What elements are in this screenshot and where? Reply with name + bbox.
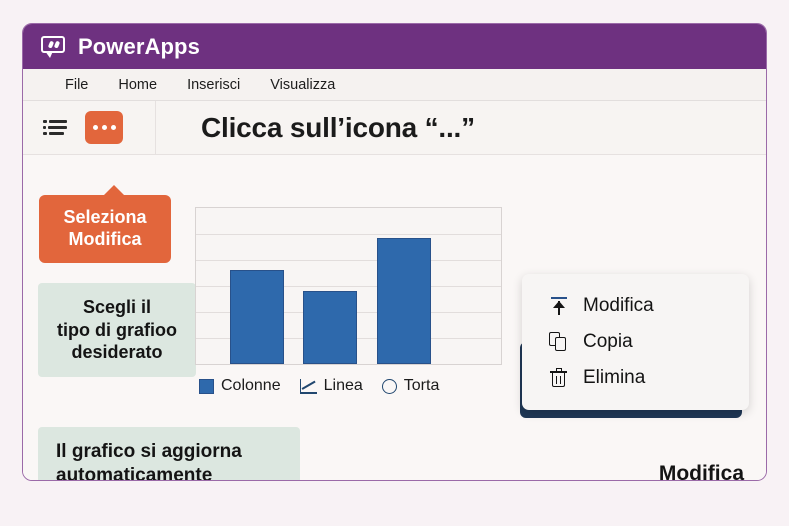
note-grafico-aggiorna: Il grafico si aggiorna automaticamente	[38, 427, 300, 481]
chart-type-legend: Colonne Linea Torta	[199, 377, 439, 395]
title-bar: PowerApps	[23, 24, 766, 69]
page-title: Clicca sull’icona “...”	[201, 112, 475, 144]
ellipsis-more-options-button[interactable]	[85, 111, 123, 144]
context-menu: Modifica Copia Elimina	[522, 274, 749, 410]
legend-item-torta[interactable]: Torta	[382, 377, 440, 395]
trash-icon	[549, 368, 569, 388]
legend-item-linea[interactable]: Linea	[300, 377, 363, 395]
context-menu-item-elimina[interactable]: Elimina	[522, 360, 749, 396]
line-chart-swatch-icon	[300, 379, 317, 394]
app-title: PowerApps	[78, 34, 200, 60]
legend-item-colonne[interactable]: Colonne	[199, 377, 281, 395]
note-line-1: Il grafico si aggiorna	[56, 440, 282, 464]
note-line-2: tipo di grafioo	[48, 319, 186, 342]
command-row: Clicca sull’icona “...”	[23, 101, 766, 155]
callout-line-2: Modifica	[49, 229, 161, 251]
menu-item-file[interactable]: File	[65, 77, 88, 93]
note-scegli-tipo-grafico: Scegli il tipo di grafioo desiderato	[38, 283, 196, 377]
chart-gridline	[196, 234, 501, 235]
legend-label: Linea	[324, 377, 363, 395]
copy-icon	[549, 332, 569, 352]
column-chart-swatch-icon	[199, 379, 214, 394]
ellipsis-dot	[102, 125, 107, 130]
note-line-2: automaticamente	[56, 464, 282, 481]
bulleted-list-icon[interactable]	[43, 119, 67, 136]
context-menu-item-copia[interactable]: Copia	[522, 324, 749, 360]
legend-label: Colonne	[221, 377, 281, 395]
context-menu-label: Copia	[583, 331, 633, 353]
canvas-body: Seleziona Modifica Scegli il tipo di gra…	[23, 155, 766, 480]
chart-bar[interactable]	[303, 291, 357, 364]
menu-item-home[interactable]: Home	[118, 77, 157, 93]
arrow-up-to-line-icon	[549, 296, 569, 316]
context-menu-label: Modifica	[583, 295, 654, 317]
ellipsis-dot	[111, 125, 116, 130]
app-window: PowerApps File Home Inserisci Visualizza…	[22, 23, 767, 481]
pie-chart-swatch-icon	[382, 379, 397, 394]
context-menu-label: Elimina	[583, 367, 645, 389]
chart-gridline	[196, 260, 501, 261]
menu-item-inserisci[interactable]: Inserisci	[187, 77, 240, 93]
footer-line-1: Modifica	[605, 461, 744, 481]
command-row-left-group	[23, 101, 156, 154]
menu-item-visualizza[interactable]: Visualizza	[270, 77, 335, 93]
context-menu-item-modifica[interactable]: Modifica	[522, 288, 749, 324]
legend-label: Torta	[404, 377, 440, 395]
chart-bar[interactable]	[230, 270, 284, 364]
powerapps-chat-icon	[41, 36, 67, 58]
note-line-1: Scegli il	[48, 296, 186, 319]
note-line-3: desiderato	[48, 341, 186, 364]
callout-seleziona-modifica: Seleziona Modifica	[39, 195, 171, 263]
ellipsis-dot	[93, 125, 98, 130]
callout-line-1: Seleziona	[49, 207, 161, 229]
bar-chart[interactable]	[195, 207, 502, 365]
chart-plot-area	[195, 207, 502, 365]
menu-bar: File Home Inserisci Visualizza	[23, 69, 766, 101]
footer-label: Modifica tipo di grafico	[605, 461, 744, 481]
chart-bar[interactable]	[377, 238, 431, 364]
callout-pointer-icon	[103, 185, 125, 196]
